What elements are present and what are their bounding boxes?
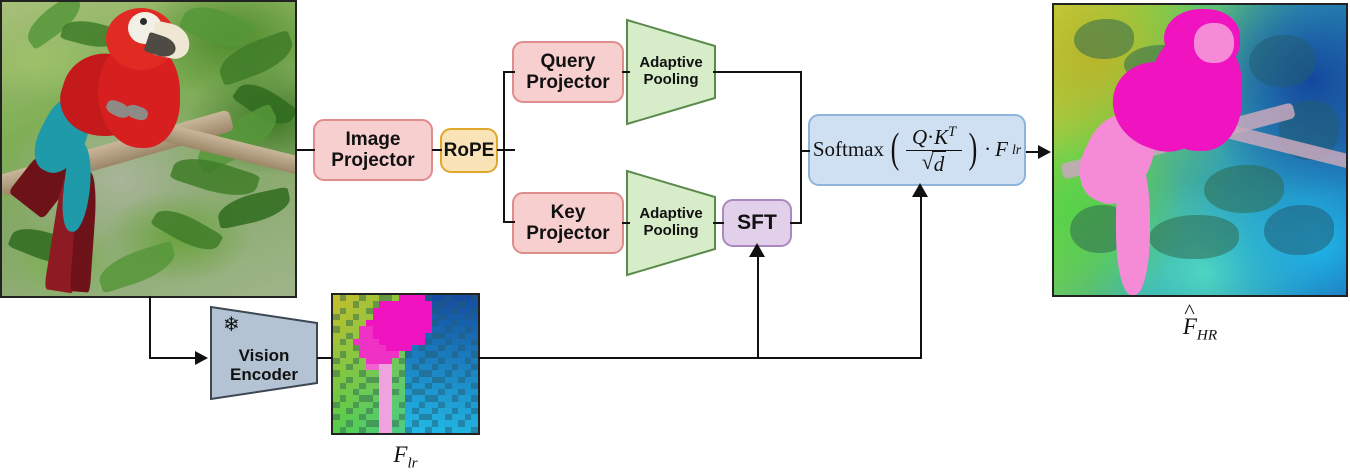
softmax-q: Q xyxy=(912,125,927,149)
edge-pooling-top-down xyxy=(800,71,802,151)
image-projector-node[interactable]: Image Projector xyxy=(313,119,433,181)
adaptive-pooling-bottom-label-1: Adaptive xyxy=(639,206,702,223)
key-projector-label-2: Projector xyxy=(526,223,609,244)
edge-image-projector-to-rope xyxy=(432,149,442,151)
softmax-d: d xyxy=(932,151,947,176)
f-lr-subscript: lr xyxy=(407,455,417,472)
edge-rope-to-query xyxy=(503,71,515,73)
adaptive-pooling-bottom-label-2: Pooling xyxy=(644,223,699,240)
adaptive-pooling-bottom-node[interactable]: Adaptive Pooling xyxy=(625,169,717,277)
key-projector-label-1: Key xyxy=(526,202,609,223)
rope-node[interactable]: RoPE xyxy=(440,128,498,173)
edge-rope-out xyxy=(497,149,515,151)
softmax-k-sup: T xyxy=(948,124,956,140)
edge-pooling-top-out xyxy=(713,71,802,73)
f-hr-symbol: F xyxy=(1183,314,1197,340)
arrow-flr-to-sft xyxy=(749,243,765,257)
softmax-prefix: Softmax xyxy=(813,138,884,162)
edge-photo-to-image-projector xyxy=(297,149,315,151)
image-projector-label-2: Projector xyxy=(331,150,414,171)
arrow-photo-to-encoder xyxy=(195,351,208,365)
arrow-softmax-to-output xyxy=(1038,145,1051,159)
f-hr-subscript: HR xyxy=(1197,327,1217,344)
sft-node[interactable]: SFT xyxy=(722,199,792,247)
edge-photo-to-encoder xyxy=(149,357,197,359)
softmax-node[interactable]: Softmax ( Q·KT d ) · Flr xyxy=(808,114,1026,186)
edge-rope-bracket xyxy=(503,71,505,223)
adaptive-pooling-top-node[interactable]: Adaptive Pooling xyxy=(625,18,717,126)
f-hr-caption: FHR xyxy=(1052,314,1348,345)
query-projector-label-1: Query xyxy=(526,51,609,72)
edge-query-to-pooling xyxy=(622,71,630,73)
edge-pooling-bottom-to-sft xyxy=(713,222,724,224)
fraction: Q·KT d xyxy=(906,125,962,176)
f-lr-symbol: F xyxy=(393,442,407,467)
query-projector-node[interactable]: Query Projector xyxy=(512,41,624,103)
f-lr-map xyxy=(331,293,480,435)
edge-flr-rail xyxy=(478,357,922,359)
vision-encoder-label-2: Encoder xyxy=(230,365,298,384)
softmax-suffix-dot: · xyxy=(984,138,991,162)
edge-encoder-to-flr xyxy=(317,357,333,359)
edge-photo-down xyxy=(149,296,151,358)
edge-rope-to-key xyxy=(503,221,515,223)
image-projector-label-1: Image xyxy=(331,129,414,150)
sft-label: SFT xyxy=(737,211,777,235)
softmax-k: K xyxy=(934,125,948,149)
edge-flr-to-sft xyxy=(757,256,759,358)
softmax-suffix-sub: lr xyxy=(1012,142,1021,158)
left-paren: ( xyxy=(891,131,900,169)
edge-flr-to-softmax xyxy=(920,196,922,358)
adaptive-pooling-top-label-2: Pooling xyxy=(644,72,699,89)
input-photo xyxy=(0,0,297,298)
vision-encoder-label-1: Vision xyxy=(239,346,290,365)
rope-label: RoPE xyxy=(444,140,495,161)
diagram-canvas: Image Projector RoPE Query Projector Key… xyxy=(0,0,1350,474)
key-projector-node[interactable]: Key Projector xyxy=(512,192,624,254)
edge-sft-up xyxy=(800,150,802,224)
f-hr-map xyxy=(1052,3,1348,297)
arrow-flr-to-softmax xyxy=(912,183,928,197)
softmax-suffix-f: F xyxy=(995,138,1008,162)
adaptive-pooling-top-label-1: Adaptive xyxy=(639,55,702,72)
f-lr-caption: Flr xyxy=(331,442,480,473)
vision-encoder-node[interactable]: ❄ Vision Encoder xyxy=(209,305,319,401)
query-projector-label-2: Projector xyxy=(526,72,609,93)
edge-key-to-pooling xyxy=(622,222,630,224)
right-paren: ) xyxy=(969,131,978,169)
